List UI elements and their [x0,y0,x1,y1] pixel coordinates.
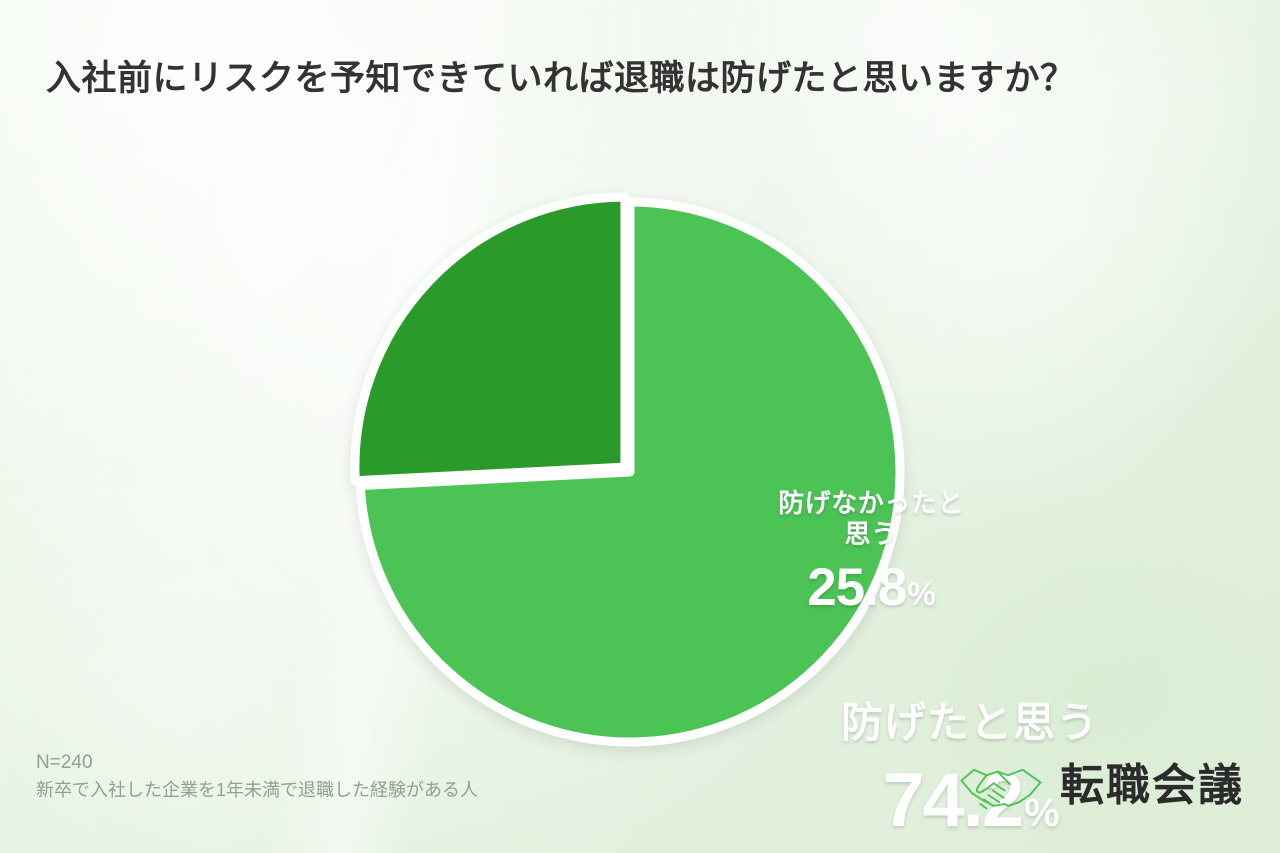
handshake-icon [956,759,1046,813]
footnote-description: 新卒で入社した企業を1年未満で退職した経験がある人 [36,777,478,805]
page-title: 入社前にリスクを予知できていれば退職は防げたと思いますか？ [46,58,1246,100]
pie-slice-not-prevented[interactable] [355,197,625,481]
footnote: N=240 新卒で入社した企業を1年未満で退職した経験がある人 [36,748,478,805]
footnote-sample-size: N=240 [36,748,478,777]
pie-chart: 防げなかったと 思う 25.8% 防げたと思う 74.2% [340,180,940,780]
brand-name: 転職会議 [1060,764,1244,808]
pie-chart-svg [340,180,940,780]
infographic-canvas: 入社前にリスクを予知できていれば退職は防げたと思いますか？ 防げなかったと 思う… [0,0,1280,853]
brand-logo[interactable]: 転職会議 [956,759,1244,813]
